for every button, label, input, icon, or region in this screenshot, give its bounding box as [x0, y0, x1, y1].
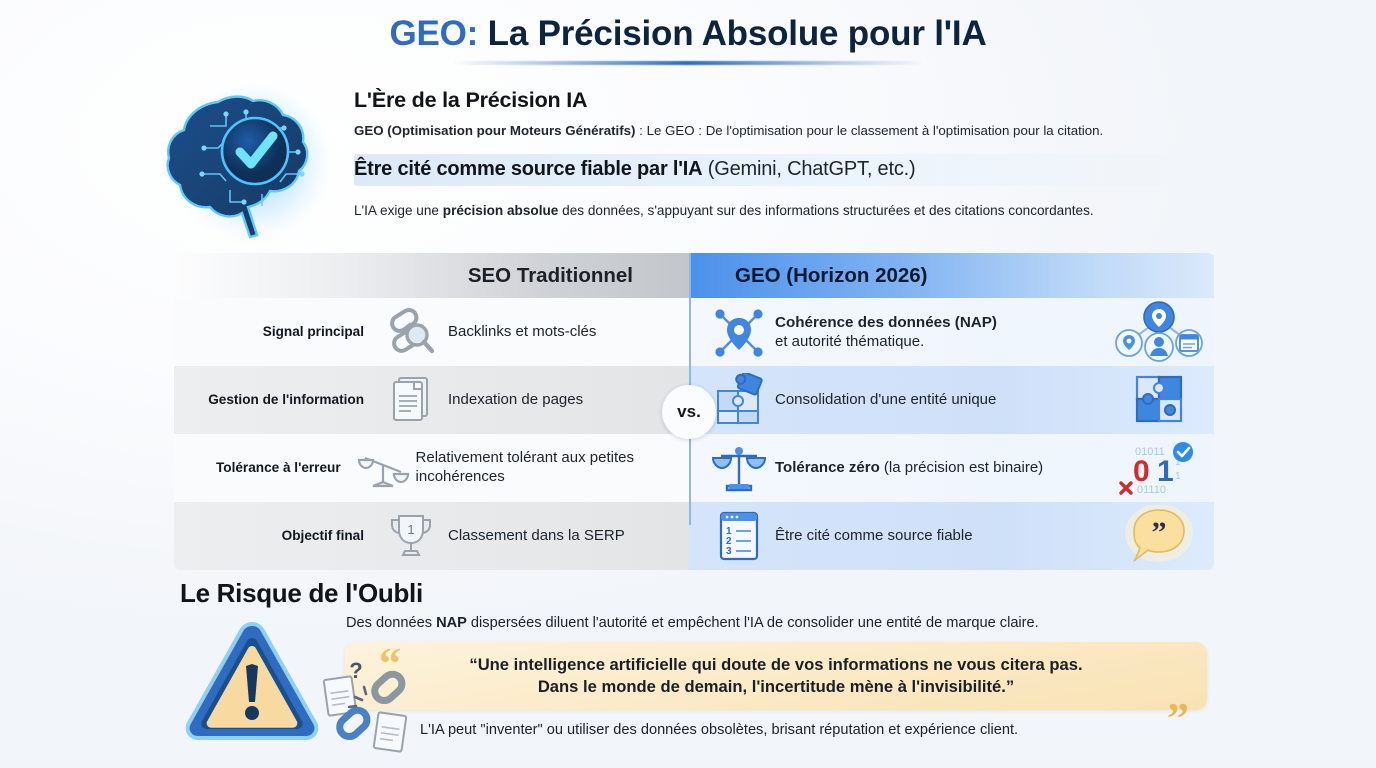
page-title-rest: La Précision Absolue pour l'IA [478, 14, 986, 53]
row-left-text: Backlinks et mots-clés [448, 323, 596, 342]
svg-text:?: ? [349, 658, 362, 683]
band-heading-rest: (Gemini, ChatGPT, etc.) [702, 158, 915, 180]
row-left-text: Relativement tolérant aux petites incohé… [416, 449, 689, 487]
documents-stack-icon [374, 374, 448, 426]
row-left-cell: Objectif final 1 Classement dans la SERP [174, 502, 689, 570]
intro-note-pre: L'IA exige une [354, 203, 443, 218]
row-right-bold: Tolérance zéro [775, 459, 880, 476]
band-heading-bold: Être cité comme source fiable par l'IA [354, 158, 702, 180]
row-right-cell: Cohérence des données (NAP) et autorité … [689, 298, 1214, 366]
citation-band: Être cité comme source fiable par l'IA (… [354, 154, 1220, 186]
unbalanced-scales-icon [351, 442, 416, 494]
row-right-rest: et autorité thématique. [775, 333, 924, 350]
puzzle-complete-icon [1104, 371, 1214, 429]
table-row: Objectif final 1 Classement dans la SERP [174, 502, 1214, 570]
svg-text:1: 1 [1175, 471, 1181, 482]
svg-text:3: 3 [726, 546, 732, 557]
risk-heading: Le Risque de l'Oubli [180, 578, 423, 609]
row-left-text: Indexation de pages [448, 391, 583, 410]
broken-link-documents-icon: ? [318, 656, 422, 760]
risk-lead-pre: Des données [346, 615, 436, 631]
nap-network-nodes-icon [1104, 300, 1214, 364]
intro-note-post: des données, s'appuyant sur des informat… [558, 203, 1093, 218]
balanced-scales-icon [689, 440, 775, 496]
intro-block: L'Ère de la Précision IA GEO (Optimisati… [354, 88, 1220, 218]
intro-note-bold: précision absolue [443, 203, 559, 218]
table-row: Signal principal Backlinks et mots-clés [174, 298, 1214, 366]
row-right-cell: Tolérance zéro (la précision est binaire… [689, 434, 1214, 502]
row-right-bold: Cohérence des données (NAP) [775, 314, 997, 331]
title-underline [453, 61, 923, 65]
intro-lead: GEO (Optimisation pour Moteurs Génératif… [354, 122, 1220, 140]
intro-note: L'IA exige une précision absolue des don… [354, 203, 1220, 218]
row-right-text: Consolidation d'une entité unique [775, 391, 1104, 410]
location-pin-network-icon [689, 304, 775, 360]
geo-column-title: GEO (Horizon 2026) [735, 264, 928, 288]
row-left-text: Classement dans la SERP [448, 527, 625, 546]
row-right-text: Être cité comme source fiable [775, 527, 1104, 546]
ranked-list-window-icon: 123 [689, 509, 775, 563]
quote-text: “Une intelligence artificielle qui doute… [345, 642, 1207, 710]
risk-lead-post: dispersées diluent l'autorité et empêche… [467, 615, 1039, 631]
row-left-cell: Gestion de l'information Indexation de p… [174, 366, 689, 434]
svg-text:1: 1 [407, 522, 414, 537]
quote-bubble-icon: ” [1104, 505, 1214, 567]
warning-triangle-icon [180, 616, 324, 746]
row-right-cell: Consolidation d'une entité unique [689, 366, 1214, 434]
row-label: Tolérance à l'erreur [174, 460, 351, 477]
comparison-table: SEO Traditionnel GEO (Horizon 2026) vs. … [174, 253, 1214, 570]
row-left-cell: Tolérance à l'erreur Relativement toléra… [174, 434, 689, 502]
chain-link-magnifier-icon [374, 307, 448, 357]
intro-heading: L'Ère de la Précision IA [354, 88, 1220, 113]
row-right-text: Tolérance zéro (la précision est binaire… [775, 459, 1104, 478]
row-right-rest: (la précision est binaire) [880, 459, 1043, 476]
risk-footer-text: L'IA peut "inventer" ou utiliser des don… [420, 722, 1018, 738]
table-header-right: GEO (Horizon 2026) [689, 253, 1214, 298]
page-title: GEO: La Précision Absolue pour l'IA [0, 14, 1376, 54]
infographic-page: GEO: La Précision Absolue pour l'IA [0, 0, 1376, 768]
risk-lead: Des données NAP dispersées diluent l'aut… [346, 615, 1196, 631]
table-header-left: SEO Traditionnel [174, 253, 689, 298]
svg-text:1: 1 [1157, 455, 1174, 488]
binary-accuracy-icon: 01011 01110 0 1 1 1 [1104, 439, 1214, 497]
row-label: Objectif final [174, 528, 374, 545]
intro-lead-rest: : Le GEO : De l'optimisation pour le cla… [635, 123, 1103, 138]
band-heading: Être cité comme source fiable par l'IA (… [354, 158, 1220, 181]
page-title-accent: GEO: [389, 14, 478, 53]
quote-line-2: Dans le monde de demain, l'incertitude m… [538, 676, 1014, 698]
svg-text:”: ” [1152, 516, 1167, 549]
vs-badge: vs. [662, 385, 716, 439]
quote-line-1: “Une intelligence artificielle qui doute… [469, 654, 1082, 676]
seo-column-title: SEO Traditionnel [468, 264, 633, 288]
svg-text:0: 0 [1133, 455, 1150, 488]
row-label: Gestion de l'information [174, 392, 374, 409]
table-row: Tolérance à l'erreur Relativement toléra… [174, 434, 1214, 502]
row-right-cell: 123 Être cité comme source fiable ” [689, 502, 1214, 570]
ai-brain-check-icon [158, 78, 352, 244]
row-right-text: Cohérence des données (NAP) et autorité … [775, 313, 1104, 352]
risk-lead-bold: NAP [436, 615, 467, 631]
row-left-cell: Signal principal Backlinks et mots-clés [174, 298, 689, 366]
row-label: Signal principal [174, 324, 374, 341]
table-header: SEO Traditionnel GEO (Horizon 2026) [174, 253, 1214, 298]
trophy-rank-icon: 1 [374, 510, 448, 562]
quote-callout: “ ” “Une intelligence artificielle qui d… [345, 642, 1207, 710]
intro-lead-bold: GEO (Optimisation pour Moteurs Génératif… [354, 123, 635, 138]
title-block: GEO: La Précision Absolue pour l'IA [0, 14, 1376, 65]
